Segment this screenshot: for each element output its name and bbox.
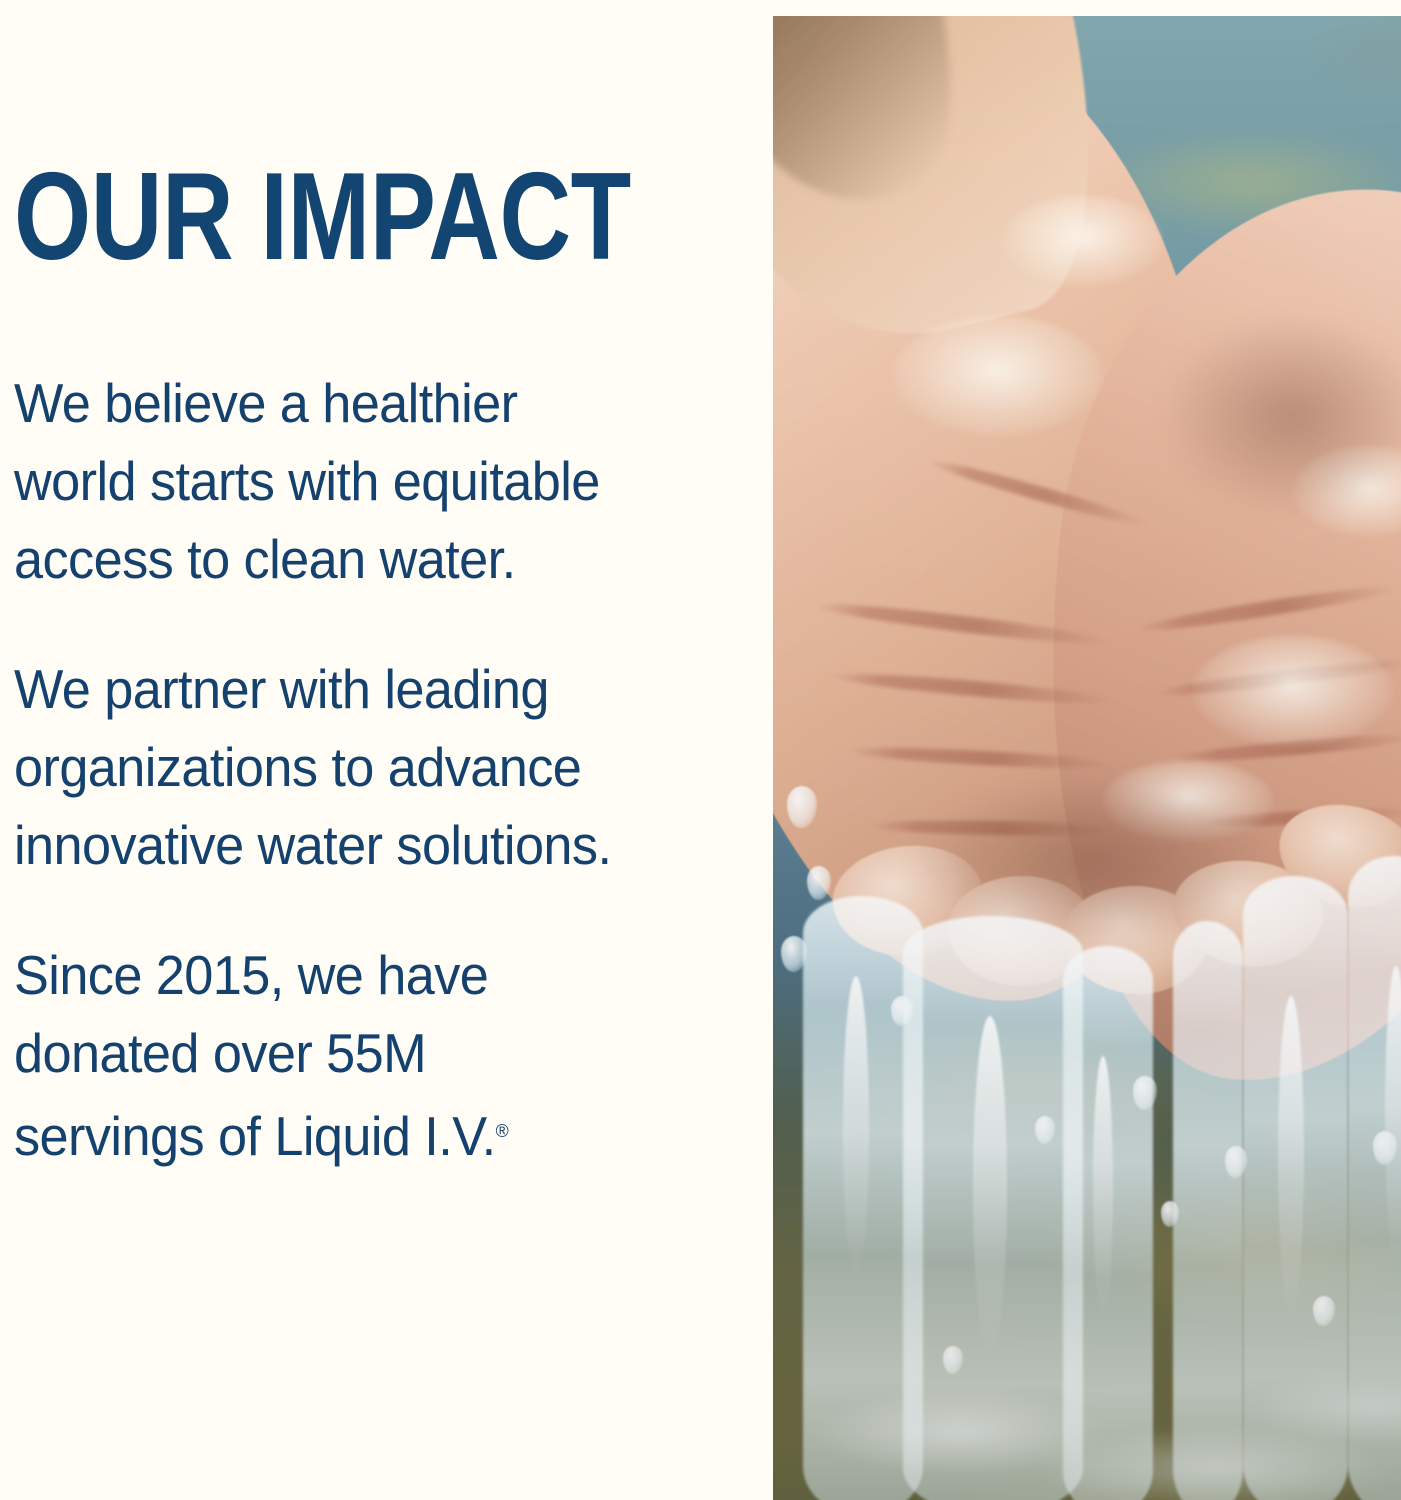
registered-trademark-icon: ® [496,1120,509,1141]
splash-pool [773,1216,1401,1500]
text-panel: OUR IMPACT We believe a healthier world … [0,0,733,1500]
paragraph-donations: Since 2015, we have donated over 55M ser… [14,936,622,1175]
page-title: OUR IMPACT [14,160,631,274]
skin-highlight [1193,636,1393,746]
paragraph-belief: We believe a healthier world starts with… [14,364,622,598]
body-copy: We believe a healthier world starts with… [14,364,654,1175]
skin-highlight [893,316,1103,436]
skin-highlight [1003,196,1163,286]
paragraph-donations-text: Since 2015, we have donated over 55M ser… [14,944,496,1167]
our-impact-banner: OUR IMPACT We believe a healthier world … [0,0,1401,1500]
hands-with-water-photo [773,16,1401,1500]
paragraph-partnership: We partner with leading organizations to… [14,650,622,884]
